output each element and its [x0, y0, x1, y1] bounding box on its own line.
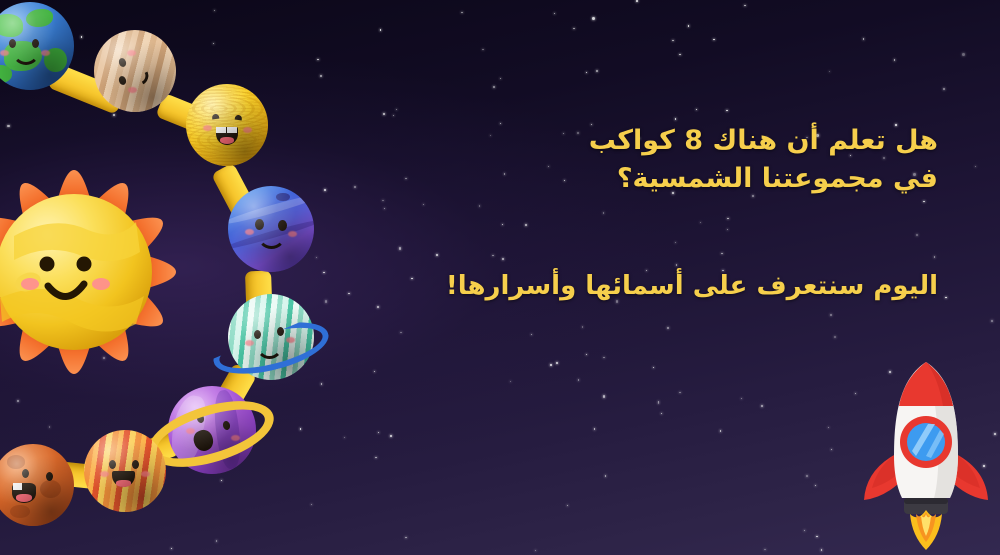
star: [216, 540, 217, 541]
star: [675, 118, 676, 119]
rocket-icon: [858, 358, 994, 550]
headline-line-1: هل تعلم أن هناك 8 كواكب: [418, 122, 938, 160]
star: [721, 253, 722, 254]
subline-text: اليوم سنتعرف على أسمائها وأسرارها!: [378, 268, 938, 305]
star: [863, 38, 864, 39]
star: [675, 242, 676, 243]
star: [344, 437, 345, 438]
star: [934, 256, 935, 257]
star: [479, 205, 480, 206]
star: [324, 189, 326, 191]
star: [390, 435, 392, 437]
star: [764, 549, 765, 550]
star: [49, 426, 50, 427]
star: [744, 5, 745, 6]
star: [726, 110, 727, 111]
star: [81, 36, 82, 37]
star: [405, 178, 406, 179]
star: [500, 78, 501, 79]
star: [323, 272, 324, 273]
planet-mars: [0, 444, 74, 526]
star: [605, 475, 606, 476]
star: [213, 43, 214, 44]
star: [384, 208, 385, 209]
star: [594, 428, 595, 429]
star: [383, 113, 385, 115]
star: [679, 392, 680, 393]
star: [688, 25, 689, 26]
star: [761, 405, 763, 407]
planet-jupiter: [84, 430, 166, 512]
star: [377, 306, 379, 308]
star: [975, 166, 976, 167]
star: [7, 125, 10, 128]
star: [592, 17, 595, 20]
star: [582, 326, 583, 327]
star: [423, 204, 424, 205]
star: [816, 536, 817, 537]
star: [636, 0, 638, 2]
star: [658, 401, 659, 402]
star: [535, 550, 536, 551]
star: [603, 357, 604, 358]
star: [806, 475, 808, 477]
star: [720, 430, 721, 431]
star: [393, 115, 394, 116]
star: [962, 53, 965, 56]
star: [834, 336, 836, 338]
rocket: [858, 358, 994, 550]
star: [400, 332, 401, 333]
star: [916, 234, 918, 236]
star: [502, 258, 504, 260]
star: [804, 530, 805, 531]
star: [382, 200, 383, 201]
star: [311, 504, 312, 505]
star: [320, 75, 321, 76]
star: [741, 398, 742, 399]
planet-face: [84, 430, 166, 512]
star: [482, 49, 483, 50]
star: [700, 222, 701, 223]
star: [502, 224, 503, 225]
planet-uranus-group: [212, 286, 330, 392]
star: [727, 229, 728, 230]
planet-jupiter-tan: [94, 30, 176, 112]
star: [603, 395, 606, 398]
star: [493, 86, 495, 88]
star: [821, 549, 822, 550]
headline-line-2: في مجموعتنا الشمسية؟: [418, 160, 938, 198]
planet-face: [94, 30, 176, 112]
star: [492, 255, 493, 256]
star: [696, 109, 697, 110]
star: [396, 109, 397, 110]
star: [815, 485, 816, 486]
star: [380, 29, 381, 30]
star: [672, 40, 673, 41]
star: [461, 12, 462, 13]
star: [375, 457, 376, 458]
star: [405, 537, 406, 538]
star: [317, 59, 318, 60]
star: [830, 314, 831, 315]
star: [945, 297, 946, 298]
star: [531, 334, 532, 335]
star: [855, 393, 856, 394]
star: [554, 13, 555, 14]
star: [374, 371, 375, 372]
star: [661, 413, 662, 414]
headline-text: هل تعلم أن هناك 8 كواكب في مجموعتنا الشم…: [418, 122, 938, 199]
star: [923, 201, 924, 202]
star: [586, 72, 587, 73]
star: [113, 114, 115, 116]
star: [829, 71, 830, 72]
star: [596, 70, 598, 72]
star: [550, 364, 551, 365]
star: [436, 254, 438, 256]
star: [300, 428, 301, 429]
sun-icon: [0, 136, 210, 408]
slide-canvas: هل تعلم أن هناك 8 كواكب في مجموعتنا الشم…: [0, 0, 1000, 555]
star: [828, 427, 829, 428]
star: [316, 257, 317, 258]
star: [573, 28, 574, 29]
star: [578, 379, 579, 380]
star: [727, 218, 728, 219]
star: [943, 88, 945, 90]
star: [586, 354, 587, 355]
star: [399, 247, 402, 250]
star: [171, 548, 172, 549]
star: [658, 403, 659, 404]
star: [676, 264, 677, 265]
planet-neptune: [228, 186, 314, 272]
sun: [0, 136, 210, 408]
star: [525, 224, 527, 226]
star: [831, 449, 832, 450]
star: [214, 10, 215, 11]
star: [667, 327, 668, 328]
star: [348, 293, 349, 294]
star: [603, 212, 604, 213]
star: [556, 362, 558, 364]
star: [713, 39, 714, 40]
star: [653, 367, 654, 368]
subline-line-1: اليوم سنتعرف على أسمائها وأسرارها!: [378, 268, 938, 305]
star: [894, 59, 895, 60]
star: [510, 381, 511, 382]
star: [567, 505, 568, 506]
star: [354, 186, 356, 188]
star: [378, 432, 379, 433]
star: [991, 320, 993, 322]
star: [679, 54, 680, 55]
